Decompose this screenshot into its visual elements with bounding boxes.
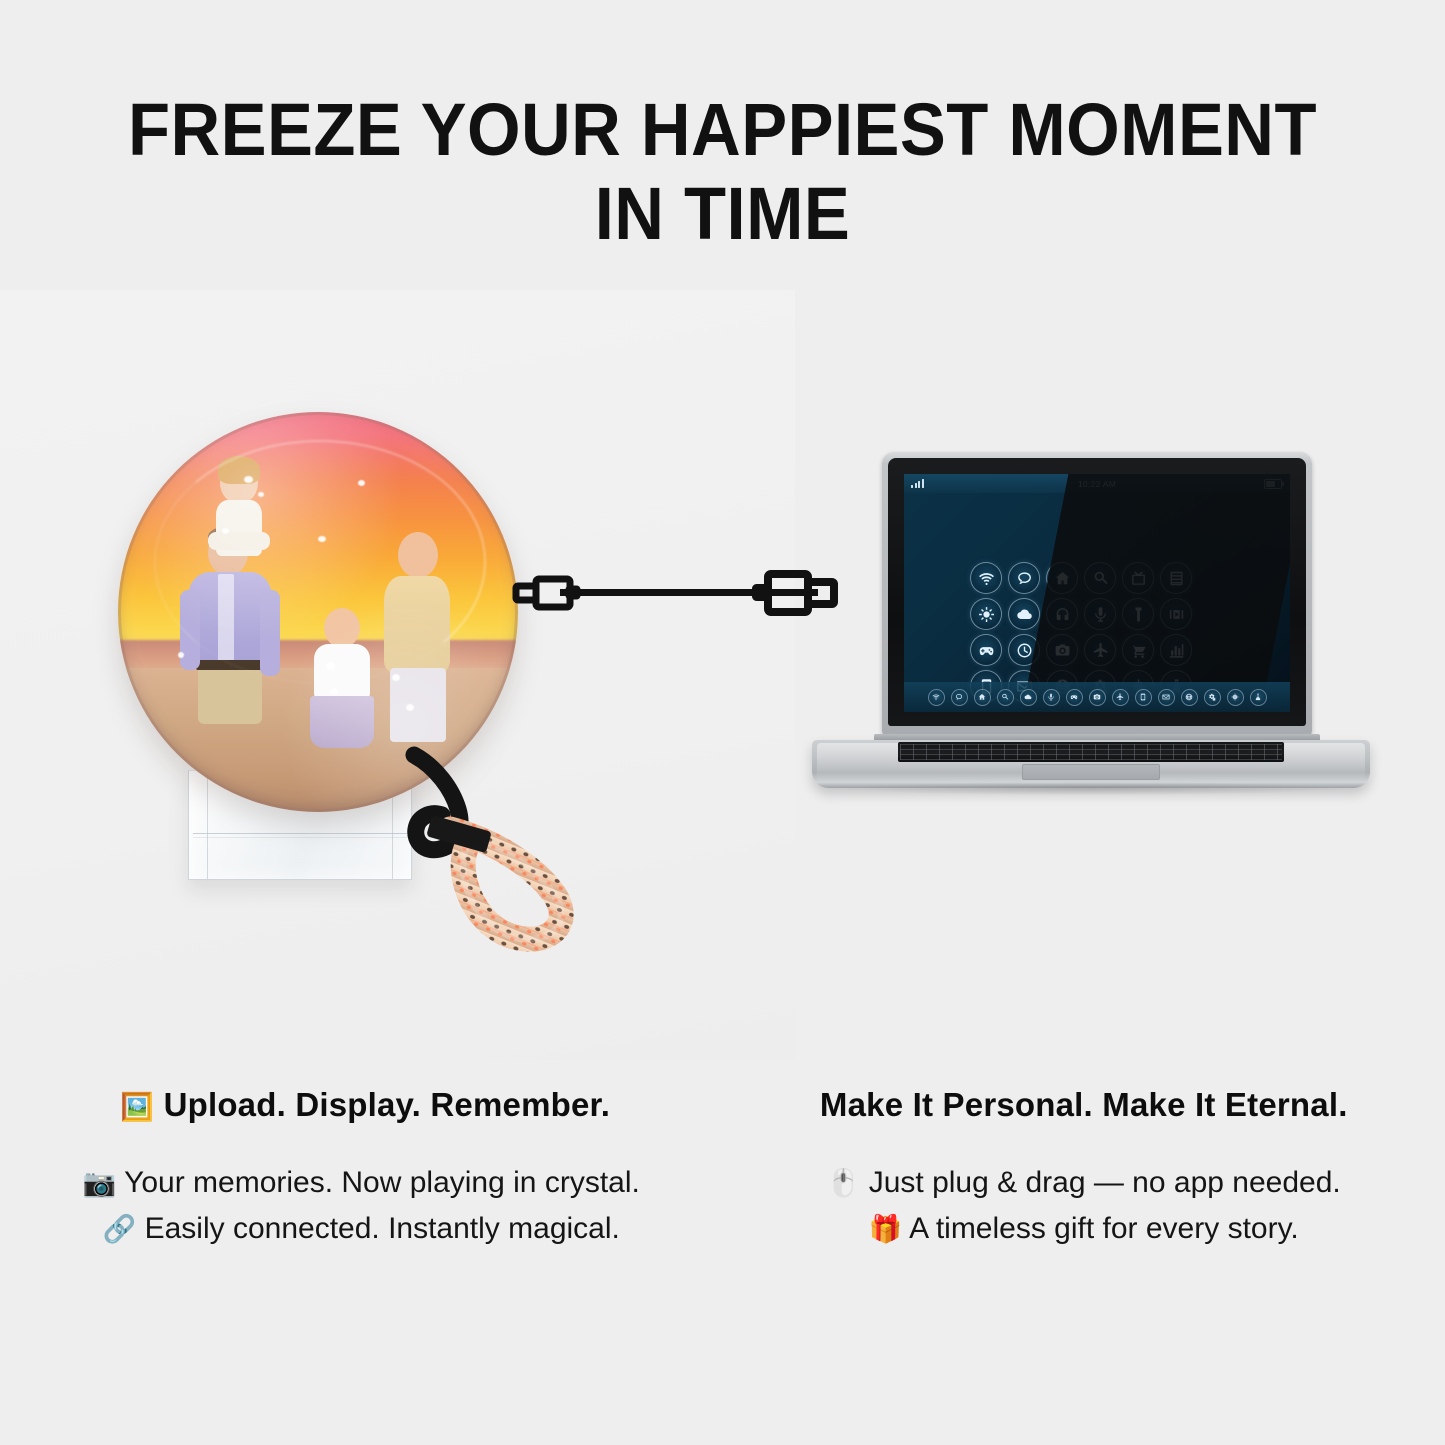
benefits-section: 🖼️ Upload. Display. Remember. 📷 Your mem… — [0, 1086, 1445, 1251]
bullet-text: Your memories. Now playing in crystal. — [124, 1166, 640, 1199]
cloud-icon[interactable] — [1008, 598, 1040, 630]
wifi-icon[interactable] — [928, 689, 945, 706]
smartphone-icon[interactable] — [1135, 689, 1152, 706]
mail-icon[interactable] — [1158, 689, 1175, 706]
chat-bubble-icon[interactable] — [951, 689, 968, 706]
benefit-column-right: Make It Personal. Make It Eternal. 🖱️ Ju… — [723, 1086, 1445, 1251]
flask-icon[interactable] — [1250, 689, 1267, 706]
brightness-icon[interactable] — [970, 598, 1002, 630]
list-item: 📷 Your memories. Now playing in crystal. — [0, 1160, 723, 1206]
home-icon[interactable] — [974, 689, 991, 706]
lanyard-strap — [370, 745, 730, 970]
list-item: 🖱️ Just plug & drag — no app needed. — [723, 1160, 1445, 1206]
mouse-emoji: 🖱️ — [827, 1168, 861, 1199]
app-dock — [904, 682, 1290, 712]
cable-wire — [560, 589, 818, 596]
right-heading-text: Make It Personal. Make It Eternal. — [820, 1086, 1348, 1123]
left-bullets: 📷 Your memories. Now playing in crystal.… — [0, 1160, 723, 1251]
right-heading: Make It Personal. Make It Eternal. — [723, 1086, 1445, 1124]
list-item: 🎁 A timeless gift for every story. — [723, 1206, 1445, 1252]
airplane-icon[interactable] — [1112, 689, 1129, 706]
headline-line-1: FREEZE YOUR HAPPIEST MOMENT — [128, 88, 1317, 171]
laptop-lid: 10:22 AM — [882, 452, 1312, 736]
cable-plug-left — [516, 579, 578, 607]
figure-mother — [376, 532, 462, 762]
globe-icon[interactable] — [1181, 689, 1198, 706]
camera-icon[interactable] — [1089, 689, 1106, 706]
laptop-bezel: 10:22 AM — [888, 458, 1306, 726]
benefit-column-left: 🖼️ Upload. Display. Remember. 📷 Your mem… — [0, 1086, 723, 1251]
bullet-text: Just plug & drag — no app needed. — [869, 1166, 1341, 1199]
chat-bubble-icon[interactable] — [1008, 562, 1040, 594]
page-title: FREEZE YOUR HAPPIEST MOMENT IN TIME — [51, 88, 1395, 257]
figure-boy — [208, 462, 270, 572]
left-heading: 🖼️ Upload. Display. Remember. — [0, 1086, 723, 1124]
list-item: 🔗 Easily connected. Instantly magical. — [0, 1206, 723, 1252]
screen-glare — [1014, 474, 1290, 712]
settings-gears-icon[interactable] — [1204, 689, 1221, 706]
laptop-screen: 10:22 AM — [904, 474, 1290, 712]
picture-frame-emoji: 🖼️ — [120, 1092, 154, 1123]
link-emoji: 🔗 — [103, 1214, 137, 1245]
laptop-device: 10:22 AM — [812, 452, 1370, 792]
laptop-shadow — [842, 782, 1342, 795]
gift-emoji: 🎁 — [869, 1214, 903, 1245]
camera-emoji: 📷 — [83, 1168, 117, 1199]
laptop-keyboard[interactable] — [898, 742, 1284, 762]
grid-icon[interactable] — [1227, 689, 1244, 706]
figure-girl — [306, 608, 378, 766]
gamepad-icon[interactable] — [1066, 689, 1083, 706]
laptop-trackpad[interactable] — [1022, 764, 1160, 780]
search-icon[interactable] — [997, 689, 1014, 706]
right-bullets: 🖱️ Just plug & drag — no app needed. 🎁 A… — [723, 1160, 1445, 1251]
gamepad-icon[interactable] — [970, 634, 1002, 666]
usb-connector-cable — [512, 565, 862, 627]
laptop-deck — [812, 740, 1370, 788]
promo-image: FREEZE YOUR HAPPIEST MOMENT IN TIME — [0, 0, 1445, 1445]
cloud-icon[interactable] — [1020, 689, 1037, 706]
bullet-text: A timeless gift for every story. — [909, 1212, 1299, 1245]
left-heading-text: Upload. Display. Remember. — [164, 1086, 611, 1123]
bullet-text: Easily connected. Instantly magical. — [145, 1212, 620, 1245]
headline-line-2: IN TIME — [51, 172, 1395, 256]
wifi-icon[interactable] — [970, 562, 1002, 594]
microphone-icon[interactable] — [1043, 689, 1060, 706]
